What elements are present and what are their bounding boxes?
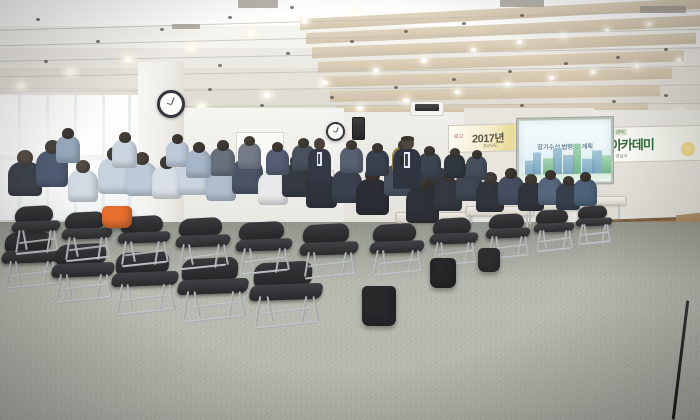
backpack-on-floor [430,258,456,288]
lecture-hall-photo: 로고 2017년 경상남도 주택 관리 용아카데미 주관 · 경남시 장기수선 … [0,0,700,420]
microphone-icon [400,156,403,165]
backpack-on-floor [102,206,132,228]
bags-layer [0,0,700,420]
backpack-on-floor [478,248,500,272]
backpack-on-floor [362,286,396,326]
